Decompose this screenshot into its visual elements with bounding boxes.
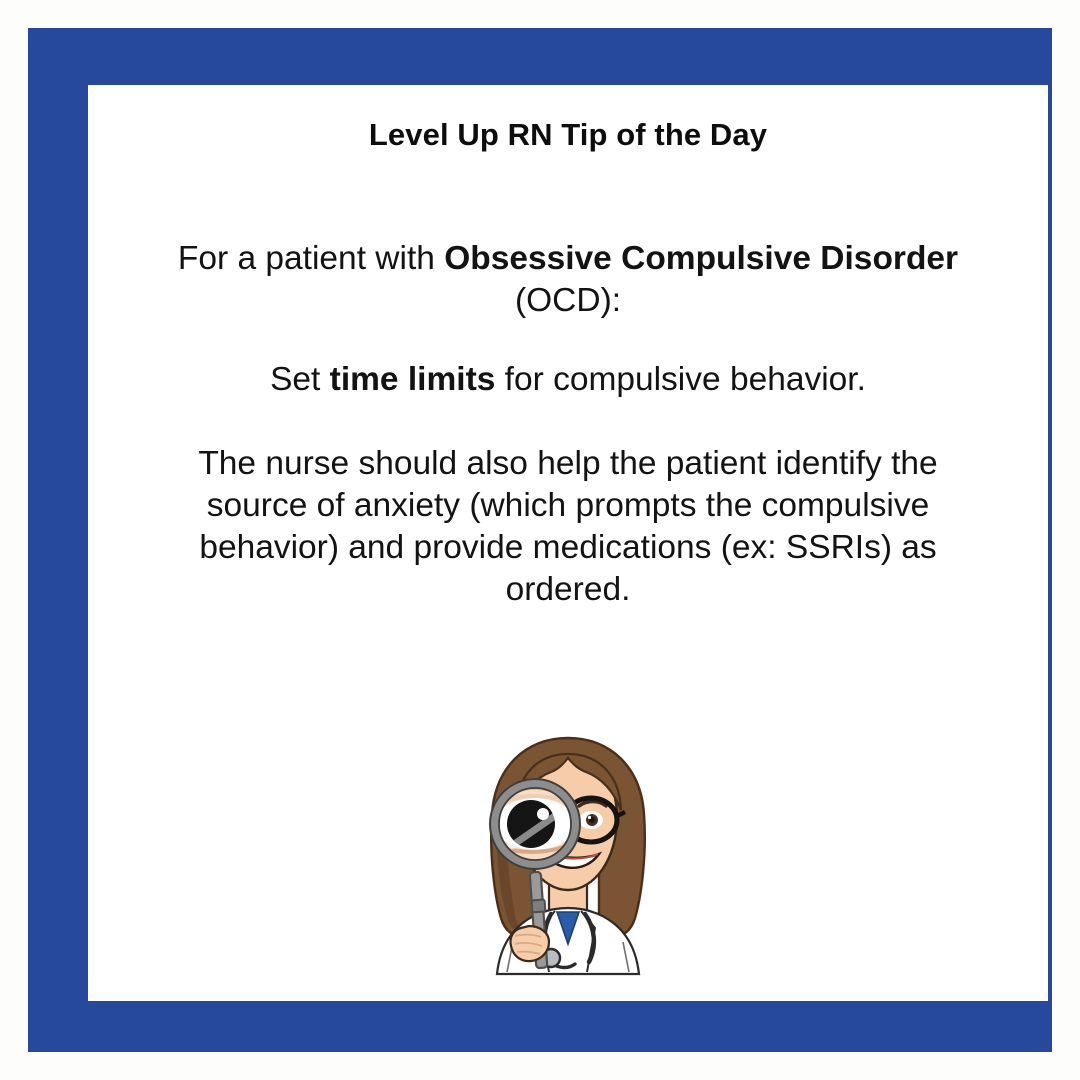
tip-line: For a patient with Obsessive Compulsive … (116, 238, 1020, 280)
poster-content: Level Up RN Tip of the Day For a patient… (88, 85, 1048, 1001)
tip-line: Set time limits for compulsive behavior. (116, 359, 1020, 401)
tip-paragraph-tip: Set time limits for compulsive behavior. (116, 359, 1020, 401)
poster-border: © 2020 Level Up RN ® Level Up RN Tip of … (28, 28, 1052, 1052)
tip-text-segment: (OCD): (515, 282, 621, 319)
tip-text-segment: Set (270, 361, 330, 398)
magnifier-handle-collar (532, 900, 546, 913)
page-title: Level Up RN Tip of the Day (88, 117, 1048, 153)
tip-line: source of anxiety (which prompts the com… (116, 485, 1020, 527)
tip-line: ordered. (116, 569, 1020, 611)
eye-glint-right (588, 816, 591, 819)
tip-paragraph-detail: The nurse should also help the patient i… (116, 443, 1020, 611)
nurse-with-magnifying-glass-icon (463, 732, 673, 982)
paragraph-spacer (116, 322, 1020, 359)
poster-card: Level Up RN Tip of the Day For a patient… (88, 85, 1048, 1001)
tip-text-segment: for compulsive behavior. (495, 361, 866, 398)
tip-body: For a patient with Obsessive Compulsive … (116, 238, 1020, 611)
tip-paragraph-intro: For a patient with Obsessive Compulsive … (116, 238, 1020, 322)
tip-text-segment: For a patient with (178, 240, 444, 277)
paragraph-spacer (116, 401, 1020, 443)
tip-line: The nurse should also help the patient i… (116, 443, 1020, 485)
tip-line: behavior) and provide medications (ex: S… (116, 527, 1020, 569)
tip-of-the-day-poster: © 2020 Level Up RN ® Level Up RN Tip of … (0, 0, 1080, 1080)
tip-line: (OCD): (116, 280, 1020, 322)
tip-text-segment-bold: time limits (330, 361, 496, 398)
tip-text-segment-bold: Obsessive Compulsive Disorder (444, 240, 958, 277)
